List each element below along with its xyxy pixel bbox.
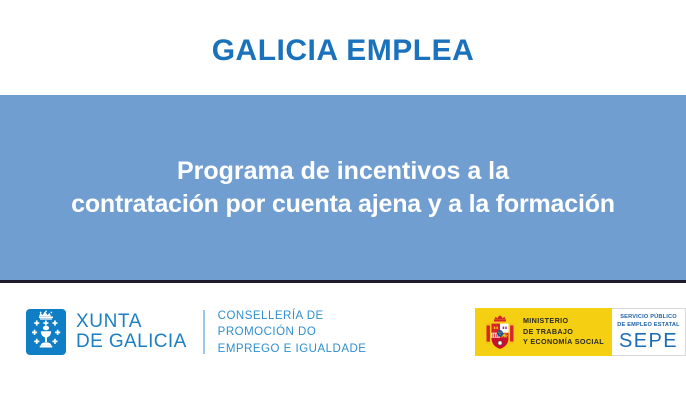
- program-banner: Programa de incentivos a la contratación…: [0, 95, 686, 283]
- ministerio-sepe-logo: MINISTERIO DE TRABAJO Y ECONOMÍA SOCIAL …: [475, 308, 686, 356]
- sepe-block: SERVICIO PÚBLICO DE EMPLEO ESTATAL SEPE: [612, 308, 686, 356]
- galicia-coat-of-arms-icon: [26, 309, 66, 355]
- sepe-acronym: SEPE: [619, 331, 678, 351]
- sepe-subtitle-line-2: DE EMPLEO ESTATAL: [617, 321, 679, 329]
- footer-logos: XUNTA DE GALICIA CONSELLERÍA DE PROMOCIÓ…: [0, 286, 686, 410]
- header-area: GALICIA EMPLEA: [0, 0, 686, 95]
- ministerio-block: MINISTERIO DE TRABAJO Y ECONOMÍA SOCIAL: [475, 308, 612, 356]
- xunta-line-2: DE GALICIA: [76, 332, 187, 353]
- xunta-line-1: XUNTA: [76, 312, 187, 333]
- logo-divider: [203, 310, 205, 354]
- xunta-wordmark: XUNTA DE GALICIA: [76, 312, 187, 353]
- sepe-subtitle-line-1: SERVICIO PÚBLICO: [620, 313, 677, 321]
- banner-text: Programa de incentivos a la contratación…: [0, 155, 686, 220]
- banner-line-2: contratación por cuenta ajena y a la for…: [8, 188, 678, 221]
- ministerio-line-1: MINISTERIO: [523, 316, 604, 327]
- xunta-de-galicia-logo: XUNTA DE GALICIA CONSELLERÍA DE PROMOCIÓ…: [26, 308, 366, 357]
- ministerio-line-3: Y ECONOMÍA SOCIAL: [523, 337, 604, 348]
- page-title: GALICIA EMPLEA: [212, 34, 475, 67]
- conselleria-line-3: EMPREGO E IGUALDADE: [218, 341, 367, 357]
- banner-line-1: Programa de incentivos a la: [8, 155, 678, 188]
- conselleria-wordmark: CONSELLERÍA DE PROMOCIÓN DO EMPREGO E IG…: [218, 308, 367, 357]
- ministerio-wordmark: MINISTERIO DE TRABAJO Y ECONOMÍA SOCIAL: [523, 316, 604, 348]
- spain-coat-of-arms-icon: [484, 313, 516, 351]
- ministerio-line-2: DE TRABAJO: [523, 327, 604, 338]
- conselleria-line-2: PROMOCIÓN DO: [218, 324, 367, 340]
- conselleria-line-1: CONSELLERÍA DE: [218, 308, 367, 324]
